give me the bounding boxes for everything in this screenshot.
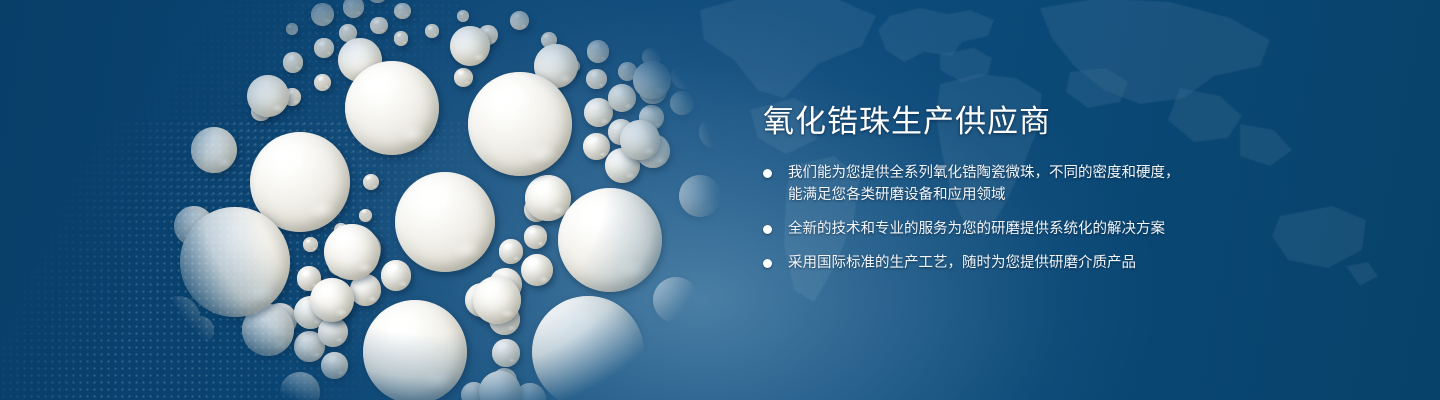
list-item: 全新的技术和专业的服务为您的研磨提供系统化的解决方案: [763, 218, 1233, 240]
ceramic-bead: [558, 188, 662, 292]
feature-bullet-list: 我们能为您提供全系列氧化锆陶瓷微珠，不同的密度和硬度， 能满足您各类研磨设备和应…: [763, 162, 1233, 274]
ceramic-bead: [286, 23, 298, 35]
ceramic-bead: [492, 339, 519, 366]
ceramic-bead: [587, 40, 610, 63]
zirconia-beads-photo: [0, 0, 780, 400]
ceramic-bead: [468, 72, 572, 176]
ceramic-bead: [191, 127, 237, 173]
bullet-dot-icon: [763, 259, 772, 268]
ceramic-bead: [510, 11, 529, 30]
ceramic-bead: [180, 207, 290, 317]
ceramic-bead: [283, 52, 303, 72]
ceramic-bead: [586, 69, 606, 89]
ceramic-bead: [343, 0, 365, 18]
ceramic-bead: [521, 254, 553, 286]
bullet-line: 能满足您各类研磨设备和应用领域: [788, 184, 1233, 206]
bullet-dot-icon: [763, 169, 772, 178]
ceramic-bead: [314, 38, 333, 57]
ceramic-bead: [303, 237, 318, 252]
ceramic-bead: [633, 61, 671, 99]
ceramic-bead: [499, 239, 523, 263]
ceramic-bead: [671, 63, 697, 89]
ceramic-bead: [359, 209, 372, 222]
ceramic-bead: [311, 3, 334, 26]
product-hero-banner: 氧化锆珠生产供应商 我们能为您提供全系列氧化锆陶瓷微珠，不同的密度和硬度， 能满…: [0, 0, 1440, 400]
ceramic-bead: [394, 3, 411, 20]
ceramic-bead: [310, 278, 354, 322]
ceramic-bead: [394, 31, 408, 45]
bullet-dot-icon: [763, 225, 772, 234]
ceramic-bead: [345, 61, 439, 155]
bullet-line: 我们能为您提供全系列氧化锆陶瓷微珠，不同的密度和硬度，: [788, 162, 1233, 184]
ceramic-bead: [524, 225, 547, 248]
ceramic-bead: [381, 260, 411, 290]
ceramic-bead: [699, 115, 733, 149]
ceramic-bead: [363, 174, 379, 190]
ceramic-bead: [425, 24, 438, 37]
list-item: 我们能为您提供全系列氧化锆陶瓷微珠，不同的密度和硬度， 能满足您各类研磨设备和应…: [763, 162, 1233, 206]
ceramic-bead: [670, 91, 694, 115]
ceramic-bead: [608, 84, 636, 112]
ceramic-bead: [450, 26, 490, 66]
ceramic-bead: [324, 224, 380, 280]
ceramic-bead: [457, 10, 469, 22]
ceramic-bead: [620, 120, 660, 160]
banner-copy-block: 氧化锆珠生产供应商 我们能为您提供全系列氧化锆陶瓷微珠，不同的密度和硬度， 能满…: [763, 104, 1233, 274]
ceramic-bead: [156, 296, 200, 340]
page-title: 氧化锆珠生产供应商: [763, 104, 1233, 140]
ceramic-bead: [363, 300, 467, 400]
ceramic-bead: [321, 352, 348, 379]
ceramic-bead: [395, 172, 495, 272]
ceramic-bead: [473, 276, 521, 324]
ceramic-bead: [367, 0, 388, 3]
ceramic-bead: [532, 296, 644, 400]
ceramic-bead: [370, 17, 388, 35]
ceramic-bead: [454, 68, 473, 87]
ceramic-bead: [679, 175, 721, 217]
ceramic-bead: [280, 372, 320, 400]
ceramic-bead: [314, 74, 331, 91]
ceramic-bead: [653, 277, 699, 323]
list-item: 采用国际标准的生产工艺，随时为您提供研磨介质产品: [763, 252, 1233, 274]
bullet-line: 采用国际标准的生产工艺，随时为您提供研磨介质产品: [788, 252, 1233, 274]
ceramic-bead: [247, 75, 289, 117]
bullet-line: 全新的技术和专业的服务为您的研磨提供系统化的解决方案: [788, 218, 1233, 240]
